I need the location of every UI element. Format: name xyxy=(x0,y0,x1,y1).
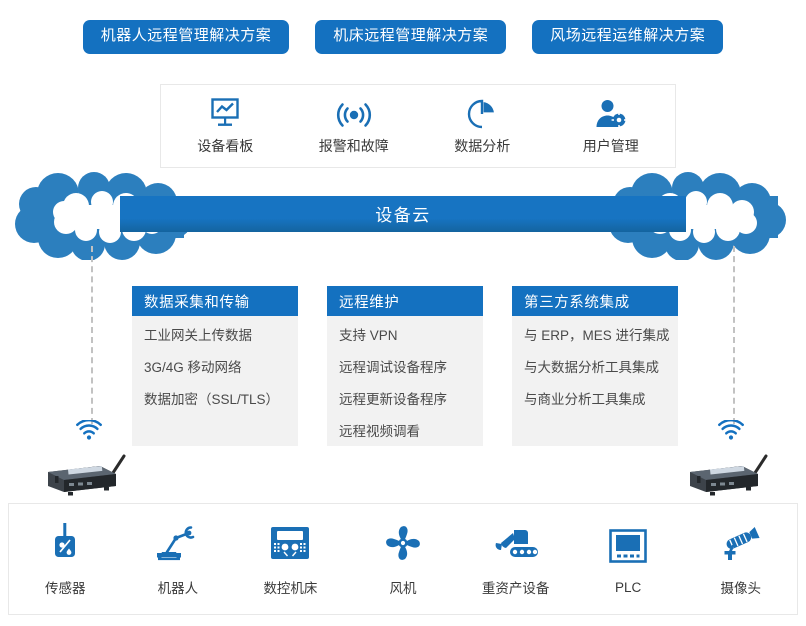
solution-button-machine-tool[interactable]: 机床远程管理解决方案 xyxy=(315,20,506,54)
feature-label: 数据分析 xyxy=(454,136,510,156)
solution-button-row: 机器人远程管理解决方案 机床远程管理解决方案 风场远程运维解决方案 xyxy=(0,20,806,54)
device-label: 数控机床 xyxy=(263,577,317,597)
device-label: PLC xyxy=(615,580,641,595)
cloud-to-gateway-line-left xyxy=(91,246,93,424)
device-item-fan[interactable]: 风机 xyxy=(347,504,460,614)
plc-icon xyxy=(608,524,648,568)
feature-item-alarm[interactable]: 报警和故障 xyxy=(290,85,419,167)
device-cloud-band: 设备云 xyxy=(0,172,806,260)
panel-line: 与商业分析工具集成 xyxy=(524,392,666,409)
feature-item-user-management[interactable]: 用户管理 xyxy=(547,85,676,167)
panel-body: 与 ERP，MES 进行集成 与大数据分析工具集成 与商业分析工具集成 xyxy=(512,316,678,409)
panel-line: 支持 VPN xyxy=(339,328,471,345)
panel-remote-maintenance: 远程维护 支持 VPN 远程调试设备程序 远程更新设备程序 远程视频调看 xyxy=(327,286,483,446)
feature-label: 报警和故障 xyxy=(319,136,389,156)
panel-title: 远程维护 xyxy=(327,286,483,316)
device-item-sensor[interactable]: 传感器 xyxy=(9,504,122,614)
device-item-plc[interactable]: PLC xyxy=(572,504,685,614)
excavator-icon xyxy=(492,521,540,565)
sensor-icon xyxy=(48,521,82,565)
device-label: 风机 xyxy=(390,577,417,597)
panel-line: 远程更新设备程序 xyxy=(339,392,471,409)
device-cloud-bar: 设备云 xyxy=(120,196,686,232)
industrial-gateway-icon xyxy=(680,452,788,501)
device-item-heavy-asset[interactable]: 重资产设备 xyxy=(459,504,572,614)
panel-body: 工业网关上传数据 3G/4G 移动网络 数据加密（SSL/TLS） xyxy=(132,316,298,409)
panel-title: 第三方系统集成 xyxy=(512,286,678,316)
monitor-chart-icon xyxy=(209,97,241,129)
pie-chart-icon xyxy=(467,97,497,129)
panel-line: 与大数据分析工具集成 xyxy=(524,360,666,377)
wifi-signal-icon xyxy=(76,420,102,445)
device-label: 摄像头 xyxy=(721,577,762,597)
solution-button-robot[interactable]: 机器人远程管理解决方案 xyxy=(83,20,290,54)
panel-line: 与 ERP，MES 进行集成 xyxy=(524,328,666,345)
panel-data-acquisition: 数据采集和传输 工业网关上传数据 3G/4G 移动网络 数据加密（SSL/TLS… xyxy=(132,286,298,446)
diagram-canvas: 机器人远程管理解决方案 机床远程管理解决方案 风场远程运维解决方案 设备看板 xyxy=(0,0,806,626)
user-gear-icon xyxy=(595,97,627,129)
fan-turbine-icon xyxy=(383,521,423,565)
wifi-signal-icon xyxy=(718,420,744,445)
feature-label: 设备看板 xyxy=(197,136,253,156)
device-label: 机器人 xyxy=(158,577,199,597)
cloud-to-gateway-line-right xyxy=(733,246,735,424)
device-item-cnc[interactable]: 数控机床 xyxy=(234,504,347,614)
robot-arm-icon xyxy=(155,521,201,565)
panel-line: 数据加密（SSL/TLS） xyxy=(144,392,286,409)
device-label: 传感器 xyxy=(45,577,86,597)
panel-body: 支持 VPN 远程调试设备程序 远程更新设备程序 远程视频调看 xyxy=(327,316,483,441)
device-cloud-label: 设备云 xyxy=(375,201,431,226)
panel-third-party-integration: 第三方系统集成 与 ERP，MES 进行集成 与大数据分析工具集成 与商业分析工… xyxy=(512,286,678,446)
device-item-robot[interactable]: 机器人 xyxy=(122,504,235,614)
panel-title: 数据采集和传输 xyxy=(132,286,298,316)
device-type-strip: 传感器 机器人 xyxy=(8,503,798,615)
cnc-machine-icon xyxy=(269,521,311,565)
security-camera-icon xyxy=(719,521,763,565)
solution-button-wind-farm[interactable]: 风场远程运维解决方案 xyxy=(532,20,723,54)
feature-item-analytics[interactable]: 数据分析 xyxy=(418,85,547,167)
platform-feature-card: 设备看板 报警和故障 数据分析 xyxy=(160,84,676,168)
panel-line: 远程视频调看 xyxy=(339,424,471,441)
industrial-gateway-icon xyxy=(38,452,146,501)
feature-label: 用户管理 xyxy=(583,136,639,156)
feature-item-dashboard[interactable]: 设备看板 xyxy=(161,85,290,167)
panel-line: 远程调试设备程序 xyxy=(339,360,471,377)
signal-alarm-icon xyxy=(334,97,374,129)
panel-line: 3G/4G 移动网络 xyxy=(144,360,286,377)
device-item-camera[interactable]: 摄像头 xyxy=(684,504,797,614)
device-label: 重资产设备 xyxy=(482,577,550,597)
panel-line: 工业网关上传数据 xyxy=(144,328,286,345)
